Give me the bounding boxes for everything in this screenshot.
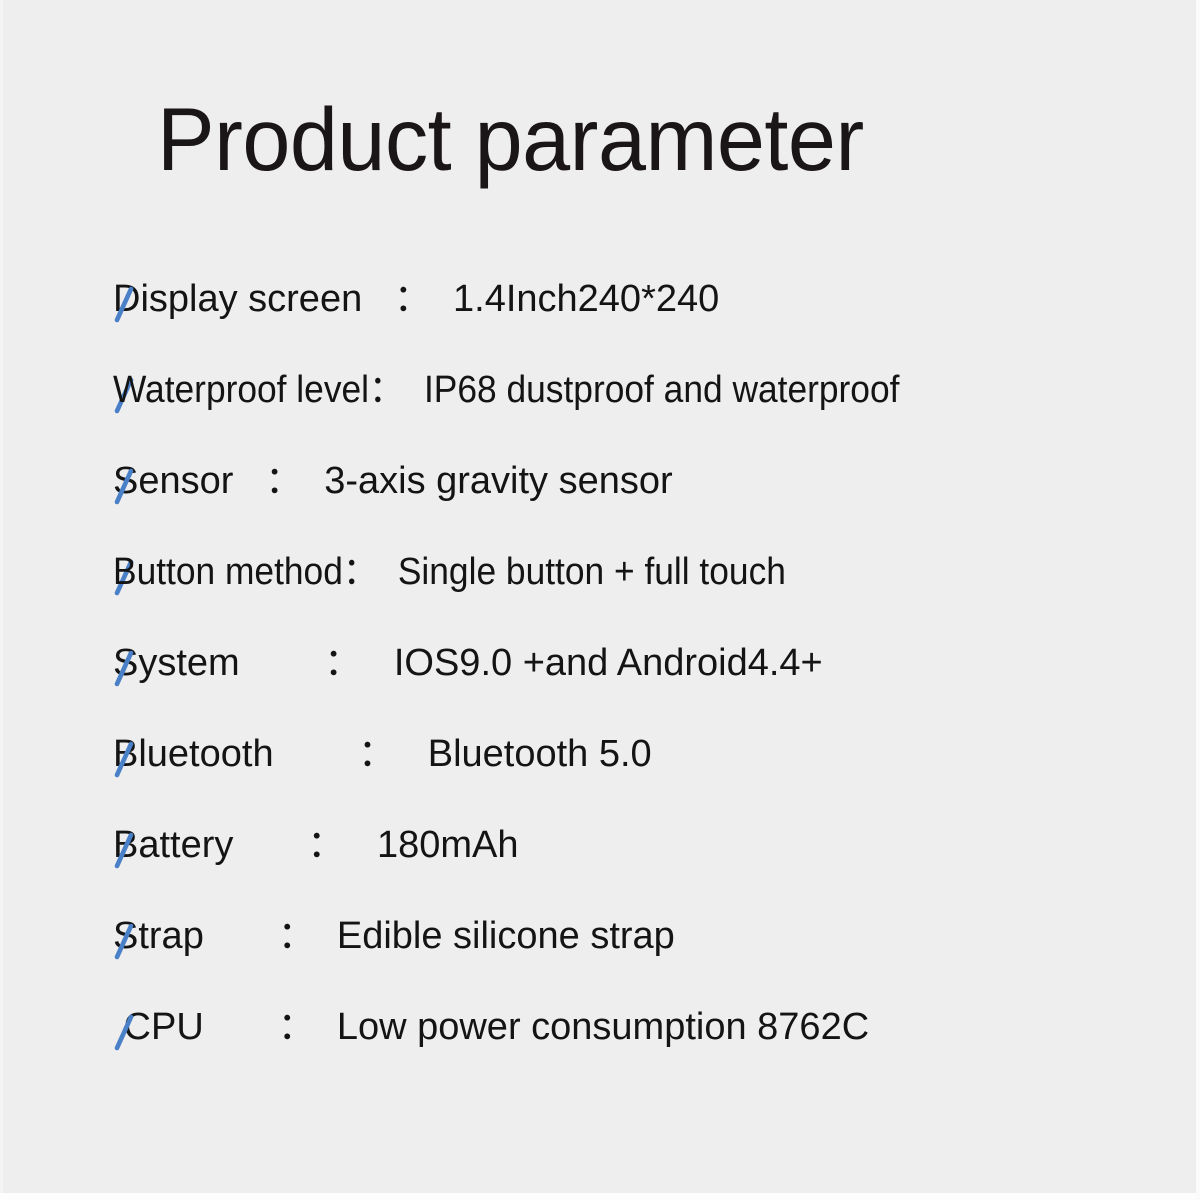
spec-separator: ： [233,460,324,502]
spec-separator: ： [204,915,337,957]
spec-text: Battery ： 180mAh [113,823,519,867]
spec-row: CPU ： Low power consumption 8762C [0,1005,1200,1096]
spec-text: Sensor ： 3-axis gravity sensor [113,459,673,503]
spec-value: 1.4Inch240*240 [453,278,719,320]
spec-label: Button method [113,551,343,593]
spec-value: Single button + full touch [398,551,786,593]
spec-row: Battery ： 180mAh [0,823,1200,914]
spec-row: Sensor ： 3-axis gravity sensor [0,459,1200,550]
spec-value: IP68 dustproof and waterproof [424,369,899,411]
spec-separator: ： [362,278,453,320]
slash-bullet-icon [113,286,135,323]
spec-label: Waterproof level [113,369,369,411]
slash-bullet-icon [113,832,135,869]
spec-text: Display screen ： 1.4Inch240*240 [113,277,719,321]
slash-bullet-icon [113,468,135,505]
spec-value: Bluetooth 5.0 [428,733,652,775]
slash-bullet-icon [113,923,135,960]
spec-separator: ： [369,369,424,411]
spec-row: Display screen ： 1.4Inch240*240 [0,277,1200,368]
spec-separator: ： [343,551,398,593]
spec-row: Button method： Single button + full touc… [0,550,1200,641]
spec-value: IOS9.0 +and Android4.4+ [394,642,823,684]
slash-bullet-icon [113,741,135,778]
spec-text: Bluetooth ： Bluetooth 5.0 [113,732,652,776]
spec-text: Strap ： Edible silicone strap [113,914,675,958]
bottom-edge-strip [0,1193,1200,1200]
spec-separator: ： [233,824,377,866]
spec-text: CPU ： Low power consumption 8762C [113,1005,869,1049]
spec-label: Display screen [113,278,362,320]
slash-bullet-icon [113,1014,135,1051]
spec-value: Low power consumption 8762C [337,1006,869,1048]
spec-row: Strap ： Edible silicone strap [0,914,1200,1005]
spec-value: 180mAh [377,824,519,866]
page-title: Product parameter [157,95,864,184]
spec-separator: ： [204,1006,337,1048]
spec-separator: ： [240,642,394,684]
spec-text: Waterproof level： IP68 dustproof and wat… [113,368,899,412]
spec-row: Waterproof level： IP68 dustproof and wat… [0,368,1200,459]
spec-text: System ： IOS9.0 +and Android4.4+ [113,641,823,685]
spec-row: System ： IOS9.0 +and Android4.4+ [0,641,1200,732]
spec-label: Bluetooth [113,733,274,775]
slash-bullet-icon [113,650,135,687]
spec-separator: ： [274,733,428,775]
product-parameter-sheet: Product parameter Display screen ： 1.4In… [0,0,1200,1200]
spec-value: 3-axis gravity sensor [324,460,672,502]
spec-list: Display screen ： 1.4Inch240*240 Waterpro… [0,277,1200,1096]
spec-row: Bluetooth ： Bluetooth 5.0 [0,732,1200,823]
spec-value: Edible silicone strap [337,915,675,957]
spec-text: Button method： Single button + full touc… [113,550,786,594]
